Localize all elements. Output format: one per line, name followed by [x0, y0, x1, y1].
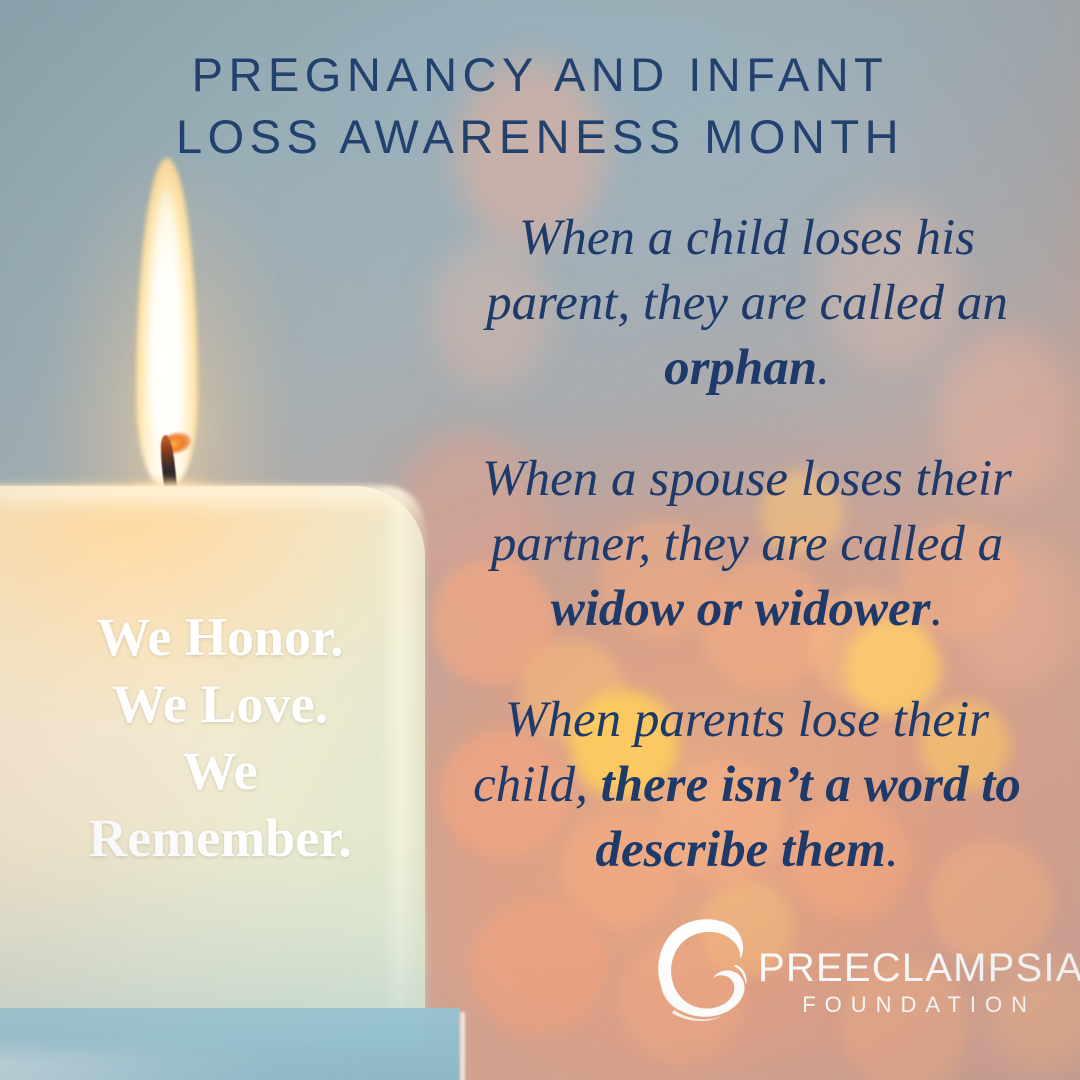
- quote-paragraph-orphan: When a child loses his parent, they are …: [452, 206, 1042, 401]
- preeclampsia-foundation-logo: PREECLAMPSIA™ FOUNDATION: [650, 910, 1030, 1030]
- quote-trail-text: .: [931, 581, 944, 637]
- quote-emphasis-orphan: orphan: [664, 340, 817, 396]
- quote-paragraph-widow: When a spouse loses their partner, they …: [452, 447, 1042, 642]
- logo-name-text: PREECLAMPSIA: [758, 946, 1080, 990]
- awareness-month-header: PREGNANCY AND INFANT LOSS AWARENESS MONT…: [0, 44, 1080, 168]
- logo-name: PREECLAMPSIA™: [758, 946, 1038, 990]
- brush-c-mark-icon: [650, 910, 768, 1028]
- quote-trail-text: .: [817, 340, 830, 396]
- quote-emphasis-no-word: there isn’t a word to describe them: [595, 757, 1020, 878]
- quote-lead-text: When a spouse loses their partner, they …: [482, 451, 1012, 572]
- glass-holder-highlight: [0, 1050, 280, 1080]
- logo-wordmark: PREECLAMPSIA™ FOUNDATION: [758, 946, 1038, 1020]
- glass-holder-rim-highlight: [330, 1012, 465, 1080]
- quote-block: When a child loses his parent, they are …: [452, 206, 1042, 883]
- quote-emphasis-widow: widow or widower: [551, 581, 931, 637]
- quote-lead-text: When a child loses his parent, they are …: [486, 210, 1008, 331]
- quote-trail-text: .: [886, 822, 899, 878]
- social-graphic-canvas: PREGNANCY AND INFANT LOSS AWARENESS MONT…: [0, 0, 1080, 1080]
- quote-paragraph-no-word: When parents lose their child, there isn…: [452, 688, 1042, 883]
- candle-top-rim: [0, 486, 425, 526]
- logo-subtitle: FOUNDATION: [758, 990, 1038, 1020]
- we-honor-statement: We Honor. We Love. We Remember.: [40, 604, 400, 872]
